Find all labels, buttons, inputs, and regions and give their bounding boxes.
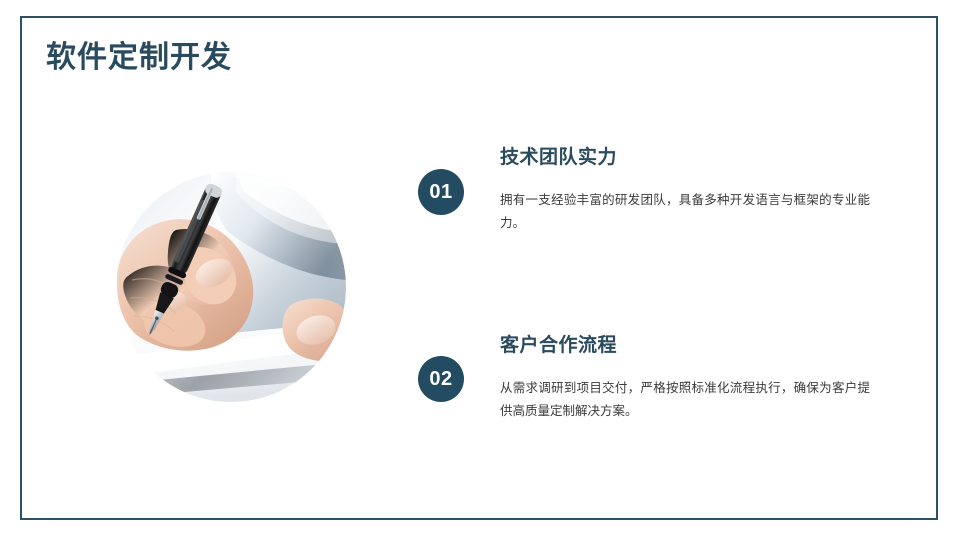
feature-heading-2: 客户合作流程 <box>500 334 884 359</box>
feature-block-2-body: 客户合作流程 从需求调研到项目交付，严格按照标准化流程执行，确保为客户提供高质量… <box>500 334 884 423</box>
step-number-badge-01: 01 <box>418 169 464 215</box>
feature-description-2: 从需求调研到项目交付，严格按照标准化流程执行，确保为客户提供高质量定制解决方案。 <box>500 377 870 423</box>
feature-description-1: 拥有一支经验丰富的研发团队，具备多种开发语言与框架的专业能力。 <box>500 189 870 235</box>
feature-block-1-body: 技术团队实力 拥有一支经验丰富的研发团队，具备多种开发语言与框架的专业能力。 <box>500 146 884 235</box>
page-title: 软件定制开发 <box>46 40 232 76</box>
photo-container <box>116 172 346 402</box>
feature-block-1: 01 技术团队实力 拥有一支经验丰富的研发团队，具备多种开发语言与框架的专业能力… <box>414 146 884 235</box>
step-number-badge-02: 02 <box>418 356 464 402</box>
feature-heading-1: 技术团队实力 <box>500 146 884 171</box>
slide-canvas: 软件定制开发 <box>0 0 960 540</box>
hand-writing-with-fountain-pen-photo <box>116 172 346 402</box>
feature-block-2: 02 客户合作流程 从需求调研到项目交付，严格按照标准化流程执行，确保为客户提供… <box>414 334 884 423</box>
